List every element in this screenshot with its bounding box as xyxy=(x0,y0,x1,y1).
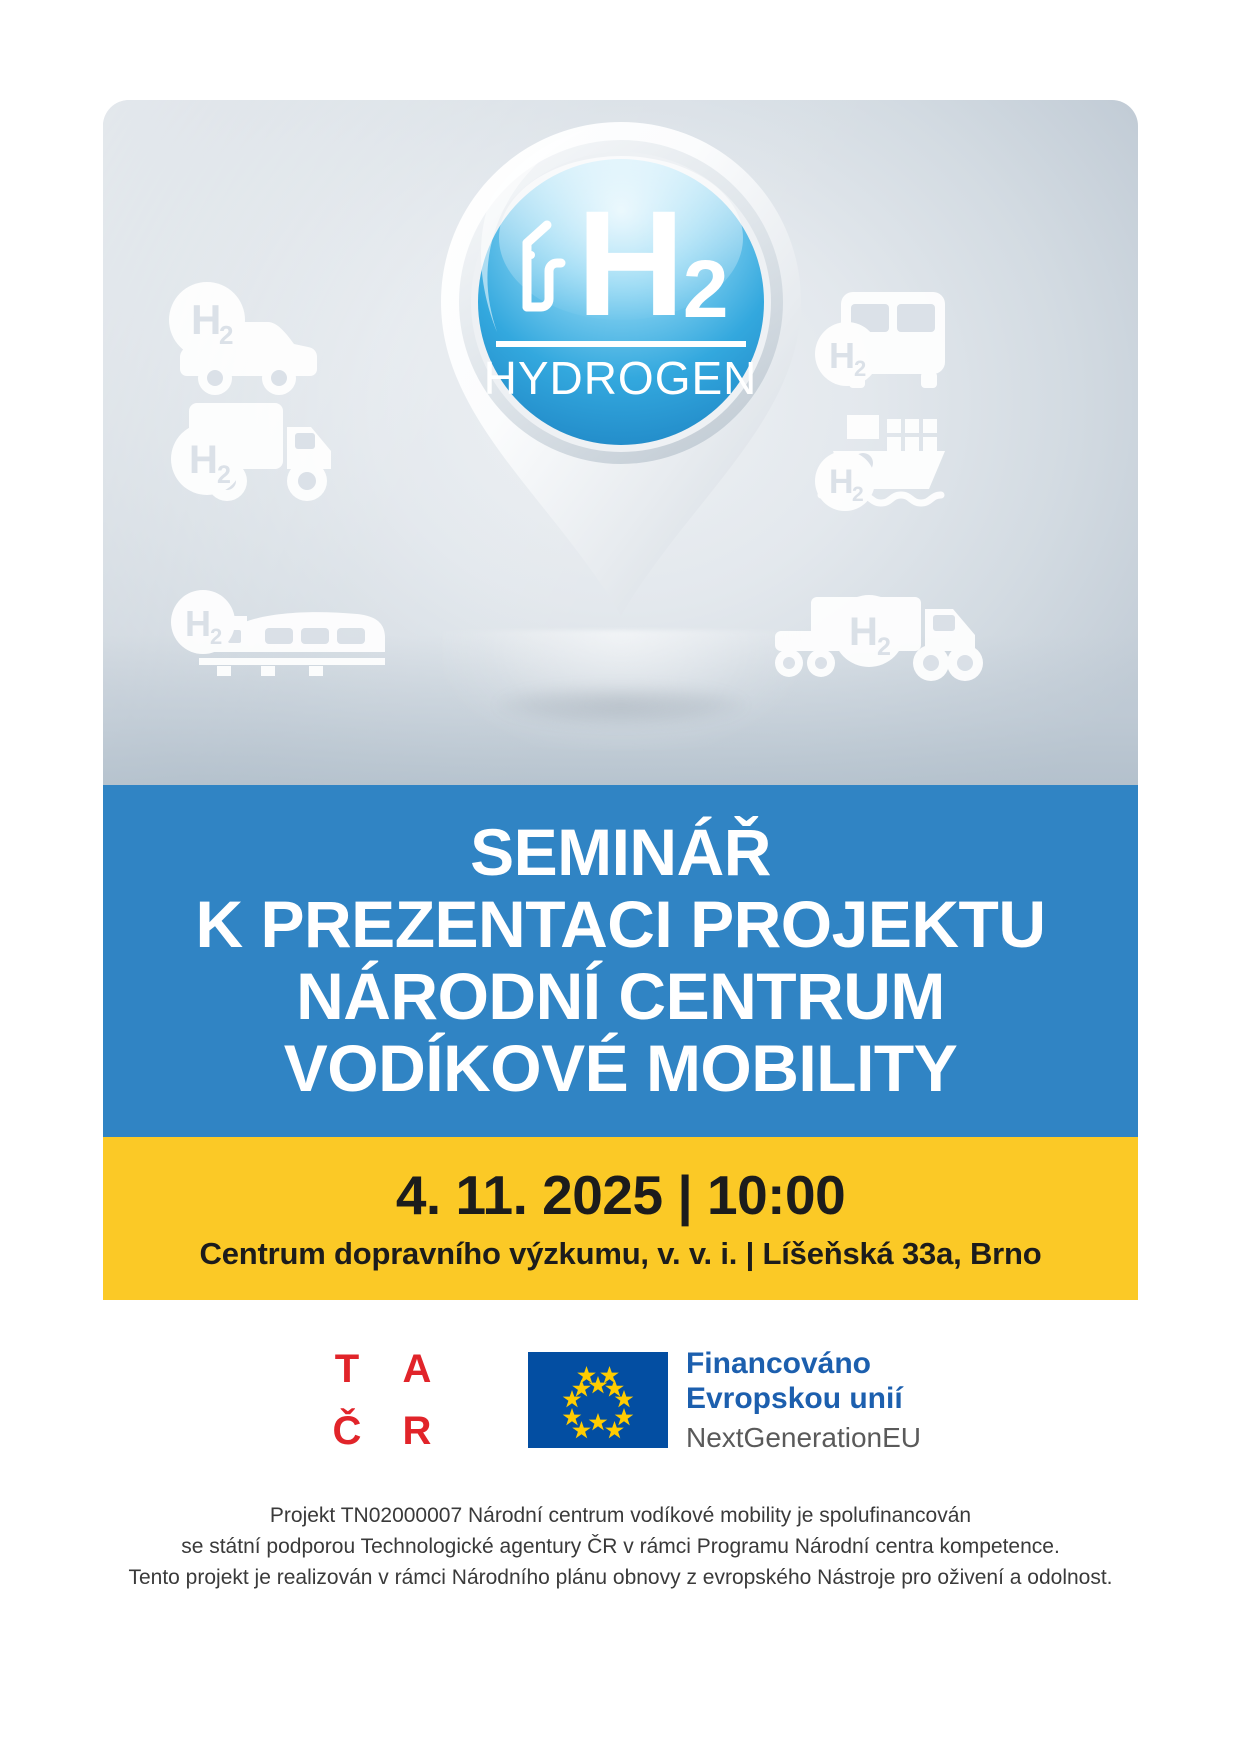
bus-h2-icon: H 2 xyxy=(813,278,963,398)
title-band: SEMINÁŘ K PREZENTACI PROJEKTU NÁRODNÍ CE… xyxy=(103,785,1138,1137)
svg-text:H: H xyxy=(849,610,878,654)
svg-text:2: 2 xyxy=(210,624,222,649)
tacr-letter-a: A xyxy=(403,1349,432,1389)
svg-text:2: 2 xyxy=(877,633,891,661)
car-h2-icon: H 2 xyxy=(163,278,323,398)
title-line-3: NÁRODNÍ CENTRUM xyxy=(195,961,1045,1033)
title-line-1: SEMINÁŘ xyxy=(195,817,1045,889)
svg-text:2: 2 xyxy=(217,461,231,489)
tacr-letter-t: T xyxy=(335,1349,359,1389)
svg-text:2: 2 xyxy=(854,356,866,381)
hero-image: H 2 H 2 xyxy=(103,100,1138,785)
event-venue: Centrum dopravního výzkumu, v. v. i. | L… xyxy=(200,1236,1042,1272)
event-datetime: 4. 11. 2025 | 10:00 xyxy=(396,1165,845,1226)
eu-funding-line-2: Evropskou unií xyxy=(686,1381,921,1416)
footer-line-1: Projekt TN02000007 Národní centrum vodík… xyxy=(103,1500,1138,1531)
svg-text:2: 2 xyxy=(219,320,233,350)
tacr-letter-r: R xyxy=(403,1411,432,1451)
eu-funding-logo: Financováno Evropskou unií NextGeneratio… xyxy=(528,1346,921,1454)
event-details-band: 4. 11. 2025 | 10:00 Centrum dopravního v… xyxy=(103,1137,1138,1300)
eu-funding-line-3: NextGenerationEU xyxy=(686,1421,921,1455)
footer-line-3: Tento projekt je realizován v rámci Náro… xyxy=(103,1562,1138,1593)
title-line-2: K PREZENTACI PROJEKTU xyxy=(195,889,1045,961)
svg-text:H: H xyxy=(829,463,854,501)
poster-root: H 2 H 2 xyxy=(0,0,1241,1754)
hydrogen-map-pin: H 2 HYDROGEN xyxy=(411,106,831,746)
svg-text:H: H xyxy=(829,335,855,376)
train-h2-icon: H 2 xyxy=(169,578,389,688)
eu-funding-text: Financováno Evropskou unií NextGeneratio… xyxy=(686,1346,921,1454)
tacr-letter-c: Č xyxy=(333,1411,362,1451)
eu-funding-line-1: Financováno xyxy=(686,1346,921,1381)
svg-text:H: H xyxy=(185,603,211,644)
footer-line-2: se státní podporou Technologické agentur… xyxy=(103,1531,1138,1562)
footer-disclaimer: Projekt TN02000007 Národní centrum vodík… xyxy=(103,1500,1138,1593)
logo-row: T A Č R xyxy=(103,1320,1138,1480)
pin-shape xyxy=(411,106,831,746)
svg-text:H: H xyxy=(189,438,218,482)
svg-text:2: 2 xyxy=(852,483,864,506)
tacr-logo: T A Č R xyxy=(320,1342,444,1458)
title-line-4: VODÍKOVÉ MOBILITY xyxy=(195,1033,1045,1105)
european-union-flag xyxy=(528,1352,668,1448)
truck-h2-icon: H 2 xyxy=(165,385,345,515)
svg-text:H: H xyxy=(191,296,221,343)
page-title: SEMINÁŘ K PREZENTACI PROJEKTU NÁRODNÍ CE… xyxy=(177,817,1063,1105)
